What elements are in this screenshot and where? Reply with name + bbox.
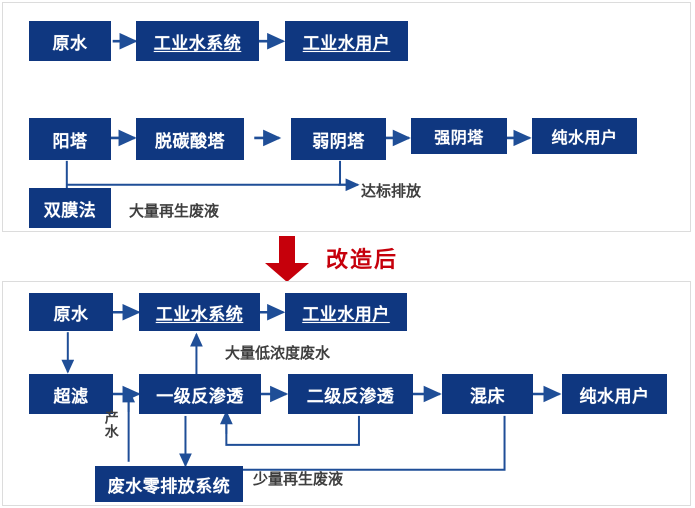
node-pure-water-user[interactable]: 纯水用户 (532, 118, 637, 154)
label-large-low-concentration-wastewater: 大量低浓度废水 (225, 342, 330, 363)
panel-after-renovation: 原水 工业水系统 工业水用户 超滤 一级反渗透 二级反渗透 混床 纯水用户 废水… (2, 281, 691, 506)
node-industrial-water-system[interactable]: 工业水系统 (139, 293, 260, 331)
line-ro2-reject-to-ro1 (226, 416, 359, 445)
node-zero-liquid-discharge[interactable]: 废水零排放系统 (95, 466, 243, 502)
node-industrial-water-system[interactable]: 工业水系统 (136, 21, 259, 61)
node-weak-anion-tower[interactable]: 弱阴塔 (291, 118, 386, 160)
node-pure-water-user[interactable]: 纯水用户 (562, 374, 667, 414)
node-strong-anion-tower[interactable]: 强阴塔 (411, 118, 507, 154)
red-down-arrow-icon (264, 236, 314, 282)
node-raw-water[interactable]: 原水 (29, 21, 111, 61)
node-ro-stage-1[interactable]: 一级反渗透 (139, 374, 261, 414)
label-product-water: 产水 (103, 410, 118, 438)
diagram-root: 原水 工业水系统 工业水用户 阳塔 脱碳酸塔 弱阴塔 强阴塔 纯水用户 双膜法 … (0, 0, 695, 508)
node-double-membrane[interactable]: 双膜法 (29, 188, 111, 228)
panel-before-renovation: 原水 工业水系统 工业水用户 阳塔 脱碳酸塔 弱阴塔 强阴塔 纯水用户 双膜法 … (2, 2, 691, 232)
node-ultrafiltration[interactable]: 超滤 (29, 374, 113, 414)
node-ro-stage-2[interactable]: 二级反渗透 (288, 374, 413, 414)
node-industrial-water-user[interactable]: 工业水用户 (285, 293, 407, 331)
label-small-regen-waste: 少量再生废液 (253, 468, 343, 489)
banner-after-renovation: 改造后 (326, 242, 398, 274)
line-mixedbed-regen-to-zld (185, 416, 504, 470)
node-mixed-bed[interactable]: 混床 (442, 374, 533, 414)
node-cation-tower[interactable]: 阳塔 (29, 118, 111, 160)
node-industrial-water-user[interactable]: 工业水用户 (285, 21, 408, 61)
label-large-regen-waste: 大量再生废液 (129, 200, 219, 221)
node-raw-water[interactable]: 原水 (29, 293, 113, 331)
node-decarbonation-tower[interactable]: 脱碳酸塔 (136, 118, 244, 160)
label-standard-discharge: 达标排放 (361, 180, 421, 201)
